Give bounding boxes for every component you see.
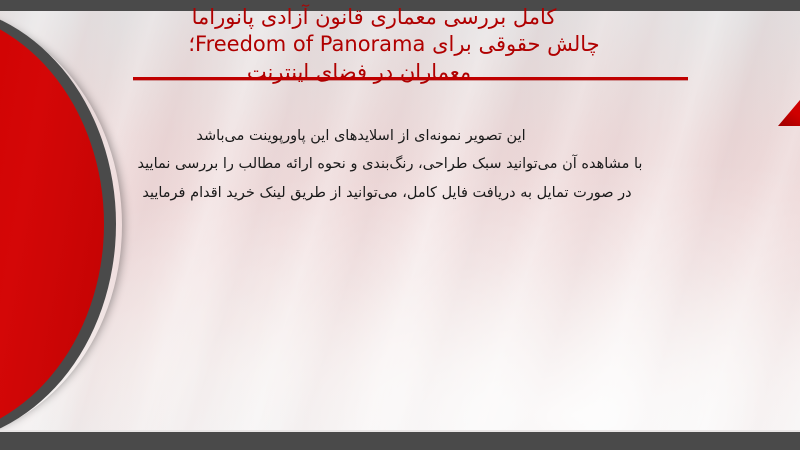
slide-body-line-3: در صورت تمایل به دریافت فایل کامل، می‌تو… <box>40 179 734 207</box>
slide-title-line-3: معماران در فضای اینترنت <box>18 59 700 86</box>
slide-body-line-2: با مشاهده آن می‌توانید سبک طراحی، رنگ‌بن… <box>40 150 740 178</box>
slide-title-line-2: چالش حقوقی برای Freedom of Panorama؛ <box>18 31 770 58</box>
slide-body-text: این تصویر نمونه‌ای از اسلایدهای این پاور… <box>40 122 740 207</box>
slide-title: کامل بررسی معماری قانون آزادی پانوراما چ… <box>18 4 770 86</box>
presentation-slide: کامل بررسی معماری قانون آزادی پانوراما چ… <box>0 0 800 450</box>
slide-title-line-1: کامل بررسی معماری قانون آزادی پانوراما <box>18 4 730 31</box>
title-underline-rule <box>133 77 688 80</box>
slide-body-line-1: این تصویر نمونه‌ای از اسلایدهای این پاور… <box>40 122 682 150</box>
slide-frame-bottom-bar <box>0 432 800 450</box>
